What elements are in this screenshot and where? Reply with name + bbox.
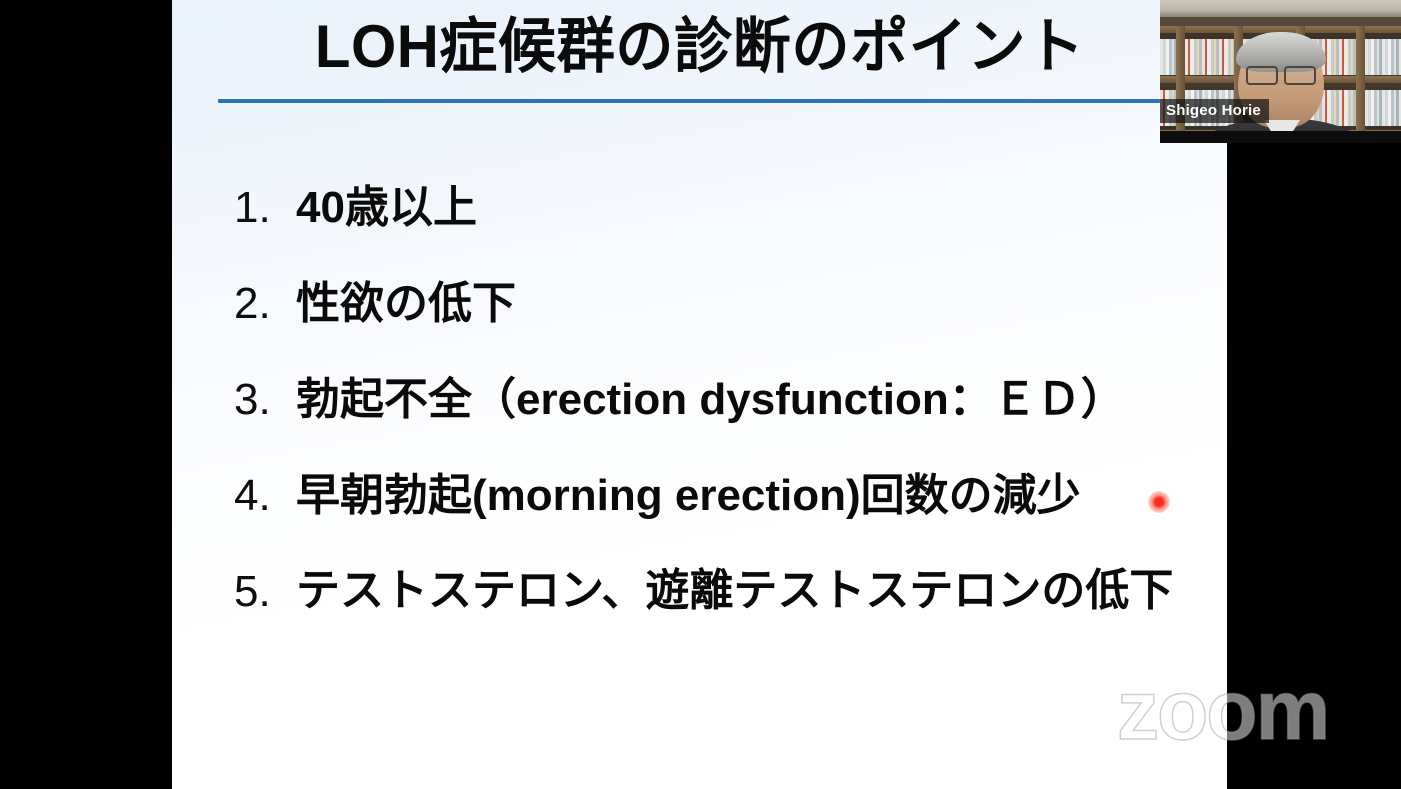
title-underline-rule [218,99,1160,103]
list-item-number: 2. [234,274,296,334]
cam-bottom-strip [1160,131,1401,143]
slide-title-block: LOH症候群の診断のポイント [172,14,1227,80]
list-item-text: 性欲の低下 [296,274,1224,334]
list-item-number: 4. [234,466,296,526]
zoom-watermark: zoom [1117,668,1328,752]
zoom-screen-share-view: LOH症候群の診断のポイント 1. 40歳以上 2. 性欲の低下 3. 勃起不全… [0,0,1401,789]
list-item-text: 勃起不全（erection dysfunction：ＥＤ） [296,370,1224,430]
list-item: 5. テストステロン、遊離テストステロンの低下 [234,562,1224,622]
glasses-icon [1246,66,1316,81]
list-item-text: テストステロン、遊離テストステロンの低下 [296,562,1224,620]
slide-bullet-list: 1. 40歳以上 2. 性欲の低下 3. 勃起不全（erection dysfu… [234,178,1224,658]
participant-video-thumbnail[interactable]: Shigeo Horie [1160,0,1401,143]
cam-wall-cap [1160,17,1401,26]
book-row [1365,90,1401,126]
list-item-number: 5. [234,562,296,622]
book-row [1185,39,1234,75]
book-row [1160,39,1176,75]
book-row [1365,39,1401,75]
list-item: 2. 性欲の低下 [234,274,1224,334]
bookshelf-post [1176,26,1185,143]
list-item-number: 3. [234,370,296,430]
list-item: 4. 早朝勃起(morning erection)回数の減少 [234,466,1224,526]
slide-title: LOH症候群の診断のポイント [315,14,1085,80]
list-item-text: 40歳以上 [296,178,1224,238]
cam-ceiling [1160,0,1401,17]
shared-slide: LOH症候群の診断のポイント 1. 40歳以上 2. 性欲の低下 3. 勃起不全… [172,0,1227,789]
list-item-number: 1. [234,178,296,238]
bookshelf-post [1356,26,1365,143]
list-item-text: 早朝勃起(morning erection)回数の減少 [296,466,1224,526]
list-item: 3. 勃起不全（erection dysfunction：ＥＤ） [234,370,1224,430]
list-item: 1. 40歳以上 [234,178,1224,238]
participant-name-label: Shigeo Horie [1160,99,1269,123]
